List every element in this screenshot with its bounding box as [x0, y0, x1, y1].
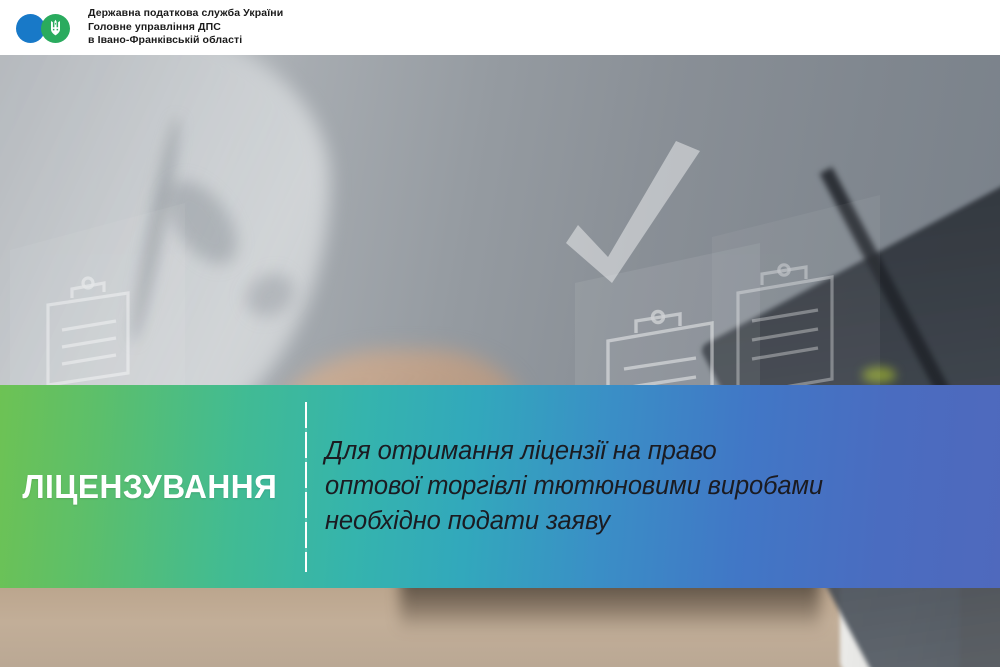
- banner-message-line-2: оптової торгівлі тютюновими виробами: [325, 469, 965, 504]
- organization-name: Державна податкова служба України Головн…: [88, 7, 283, 48]
- org-line-2: Головне управління ДПС: [88, 21, 283, 35]
- tax-service-logo[interactable]: [16, 11, 78, 45]
- licensing-banner: ЛІЦЕНЗУВАННЯ Для отримання ліцензії на п…: [0, 385, 1000, 588]
- licensing-announcement-page: Державна податкова служба України Головн…: [0, 0, 1000, 667]
- ukrainian-trident-icon: [47, 19, 64, 38]
- org-line-3: в Івано-Франківській області: [88, 34, 283, 48]
- banner-message-line-3: необхідно подати заяву: [325, 504, 965, 539]
- banner-kicker-text: ЛІЦЕНЗУВАННЯ: [23, 468, 278, 506]
- banner-message-line-1: Для отримання ліцензії на право: [325, 434, 965, 469]
- photo-green-highlight: [862, 367, 896, 383]
- banner-kicker: ЛІЦЕНЗУВАННЯ: [0, 385, 300, 588]
- banner-message: Для отримання ліцензії на право оптової …: [325, 385, 965, 588]
- site-header: Державна податкова служба України Головн…: [0, 0, 1000, 55]
- banner-dashed-divider: [305, 402, 307, 572]
- org-line-1: Державна податкова служба України: [88, 7, 283, 21]
